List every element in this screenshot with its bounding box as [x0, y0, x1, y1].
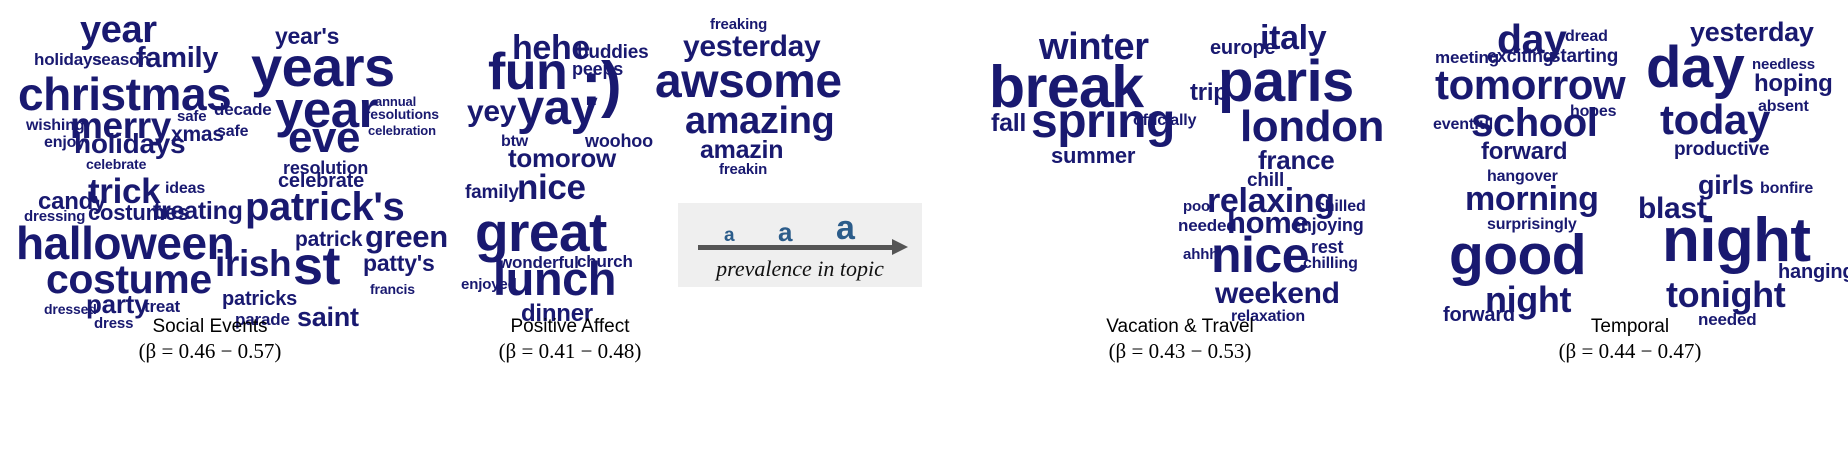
- christmas-cloud: yearholidaysseasonfamilychristmaswishing…: [8, 8, 213, 178]
- cloud-word: weekend: [1215, 280, 1340, 308]
- night-tonight-cloud: girlsbonfireblastnighthangingtonightneed…: [1630, 160, 1830, 330]
- caption-social-events: Social Events (β = 0.46 − 0.57): [80, 316, 340, 363]
- cloud-word: patty's: [363, 253, 435, 274]
- legend-size-medium: a: [778, 219, 792, 245]
- cloud-word: eve: [288, 118, 360, 158]
- cloud-word: patricks: [222, 290, 297, 308]
- caption-title: Temporal: [1591, 316, 1669, 337]
- cloud-word: chilling: [1303, 257, 1358, 272]
- cloud-word: officially: [1133, 114, 1196, 129]
- cloud-word: london: [1240, 107, 1384, 147]
- cloud-word: today: [1660, 101, 1770, 140]
- cloud-word: safe: [177, 110, 206, 124]
- cloud-word: green: [365, 223, 448, 252]
- cloud-word: decade: [214, 102, 272, 118]
- cloud-word: treat: [144, 299, 180, 315]
- caption-temporal: Temporal (β = 0.44 − 0.47): [1490, 316, 1770, 363]
- break-cloud: winterbreakfallspringofficiallysummer: [985, 8, 1185, 178]
- cloud-word: paris: [1218, 55, 1354, 108]
- caption-beta: (β = 0.43 − 0.53): [1030, 339, 1330, 363]
- cloud-word: morning: [1465, 184, 1599, 215]
- fun-yay-cloud: hehebuddiespeepsfun:)yeyyaybtwwoohootomo…: [455, 8, 655, 178]
- legend-size-small: a: [724, 226, 735, 245]
- day-today-cloud: yesterdaydayneedlesshopingabsenttodaypro…: [1630, 8, 1830, 178]
- cloud-word: family: [465, 184, 519, 201]
- caption-beta: (β = 0.46 − 0.57): [80, 339, 340, 363]
- caption-positive-affect: Positive Affect (β = 0.41 − 0.48): [440, 316, 700, 363]
- cloud-word: francis: [370, 283, 415, 296]
- new-year-cloud: year'syearsdecadeyearannualresolutionssa…: [205, 8, 410, 178]
- cloud-word: tomorrow: [1435, 66, 1625, 105]
- cloud-word: st: [293, 242, 340, 292]
- cloud-word: awsome: [655, 60, 842, 104]
- caption-title: Social Events: [152, 316, 267, 337]
- cloud-word: holidays: [74, 131, 185, 157]
- legend-size-large: a: [836, 211, 855, 245]
- cloud-word: fall: [991, 112, 1026, 135]
- cloud-word: tonight: [1666, 278, 1785, 311]
- cloud-word: safe: [217, 125, 248, 140]
- legend-scale: a a a: [694, 208, 906, 254]
- relaxing-nice-cloud: chillrelaxingpoolchilledneededhomeenjoyi…: [1175, 160, 1375, 330]
- cloud-word: amazing: [685, 104, 834, 139]
- cloud-word: hopes: [1570, 105, 1616, 120]
- cloud-word: pool: [1183, 200, 1214, 214]
- cloud-word: resolutions: [365, 108, 439, 121]
- cloud-word: yay: [517, 86, 597, 131]
- cloud-word: eventful: [1433, 118, 1493, 133]
- cloud-word: bonfire: [1760, 182, 1813, 197]
- cloud-word: celebration: [368, 125, 436, 137]
- caption-beta: (β = 0.44 − 0.47): [1490, 339, 1770, 363]
- caption-title: Vacation & Travel: [1106, 316, 1254, 337]
- legend-arrow-icon: [698, 245, 894, 250]
- cloud-word: good: [1449, 229, 1586, 281]
- cloud-word: summer: [1051, 146, 1135, 166]
- cloud-word: rest: [1311, 239, 1343, 256]
- cloud-word: yey: [467, 98, 516, 126]
- figure-root: yearholidaysseasonfamilychristmaswishing…: [0, 0, 1848, 450]
- cloud-word: irish: [215, 247, 291, 281]
- cloud-word: chilled: [1316, 200, 1366, 215]
- good-night-cloud: hangovermorningsurprisinglygoodnightforw…: [1425, 160, 1625, 330]
- cloud-word: party: [86, 293, 148, 317]
- great-lunch-cloud: familynicegreatwonderfulchurchenjoyedlun…: [455, 160, 655, 330]
- cloud-word: productive: [1674, 141, 1769, 158]
- cloud-word: ideas: [165, 182, 205, 197]
- cloud-word: hoping: [1754, 73, 1833, 95]
- cloud-word: freakin: [719, 163, 767, 177]
- cloud-word: nice: [517, 172, 586, 204]
- caption-vacation-travel: Vacation & Travel (β = 0.43 − 0.53): [1030, 316, 1330, 363]
- paris-cloud: europeitalytripparislondonfrance: [1190, 8, 1385, 178]
- tomorrow-school-cloud: daydreadmeetingexcitingstartingtomorrows…: [1425, 8, 1625, 178]
- awsome-cloud: freakingyesterdayawsomeamazingamazinfrea…: [655, 8, 845, 178]
- cloud-word: nice: [1211, 232, 1309, 278]
- st-patricks-cloud: celebratepatrick'spatrickgreenirishstpat…: [205, 160, 410, 330]
- caption-beta: (β = 0.41 − 0.48): [440, 339, 700, 363]
- cloud-word: hanging: [1778, 263, 1848, 281]
- legend-box: a a a prevalence in topic: [678, 203, 922, 287]
- halloween-cloud: trickideascandydressingcostumestreatingh…: [8, 160, 213, 330]
- cloud-word: great: [475, 207, 607, 258]
- legend-caption: prevalence in topic: [716, 256, 884, 282]
- cloud-word: dread: [1565, 30, 1608, 45]
- cloud-word: lunch: [493, 257, 616, 300]
- cloud-word: amazin: [700, 139, 783, 162]
- caption-title: Positive Affect: [511, 316, 630, 337]
- cloud-word: day: [1646, 41, 1744, 94]
